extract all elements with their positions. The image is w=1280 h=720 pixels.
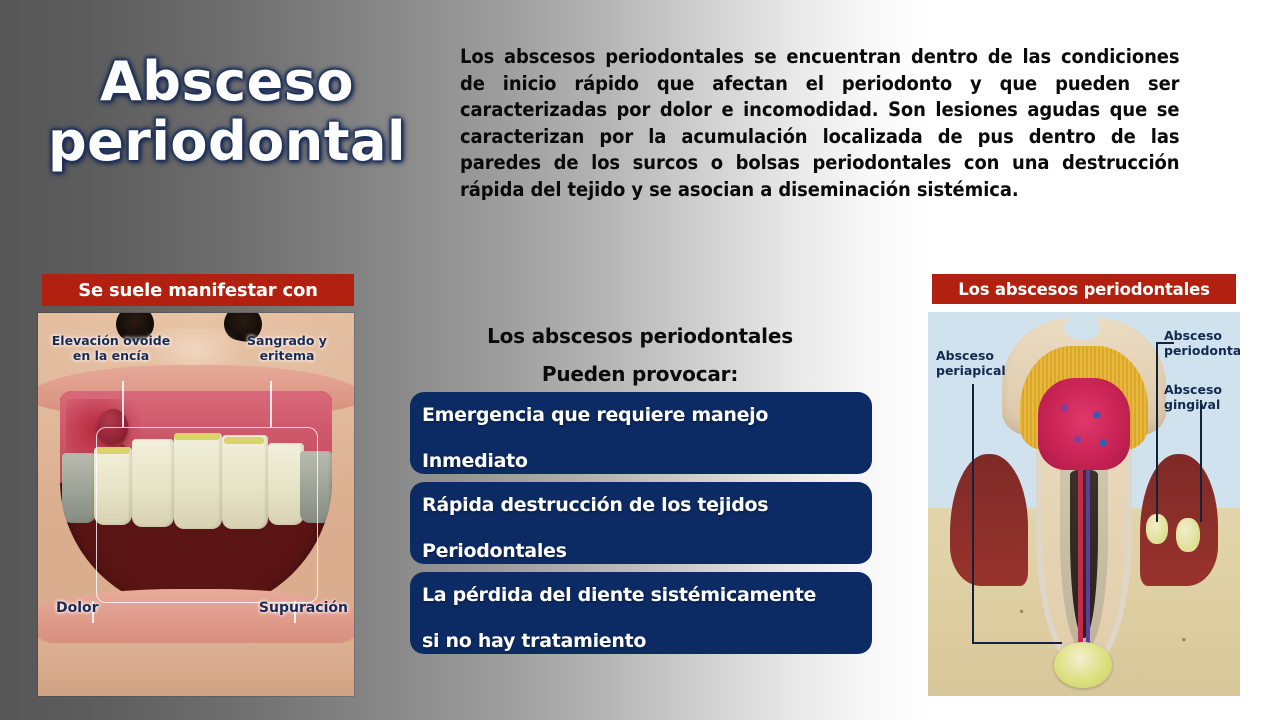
diagram-label-periapical: Absceso periapical [936,348,1016,378]
center-heading-line-1: Los abscesos periodontales [400,324,880,348]
photo-chin [38,643,354,696]
diagram-leader-line [1200,400,1202,522]
diagram-leader-line [972,384,974,642]
page-title-line-1: Absceso [100,50,354,113]
consequence-box-1-line-2: Inmediato [422,438,872,484]
diagram-gingiva-left [950,454,1028,586]
diagram-label-periodontal: Absceso periodontal [1164,328,1240,358]
center-heading-line-2: Pueden provocar: [400,362,880,386]
callout-suppuration: Supuración [238,601,348,616]
left-banner: Se suele manifestar con [42,274,354,306]
consequence-box-2-line-2: Periodontales [422,528,872,574]
diagram-crown-notch [1064,316,1100,340]
right-banner: Los abscesos periodontales [932,274,1236,304]
page-title: Absceso periodontal [22,52,432,172]
photo-tooth [62,453,96,523]
callout-bleeding-erythema: Sangrado y eritema [234,333,340,363]
consequence-box-3-line-1: La pérdida del diente sistémicamente [422,572,872,618]
diagram-leader-line [1156,342,1158,522]
callout-pain: Dolor [56,601,126,616]
consequence-box-3-line-2: si no hay tratamiento [422,618,872,664]
consequence-box-3: La pérdida del diente sistémicamente si … [410,572,872,654]
clinical-photo-mouth: Elevación ovoide en la encía Sangrado y … [38,313,354,696]
diagram-pulp-vessels [1052,394,1116,464]
photo-leader-line [122,381,124,427]
photo-highlight-box [96,427,318,603]
diagram-periapical-abscess [1054,642,1112,688]
consequence-box-1-line-1: Emergencia que requiere manejo [422,392,872,438]
consequence-box-1: Emergencia que requiere manejo Inmediato [410,392,872,474]
callout-ovoid-elevation: Elevación ovoide en la encía [46,333,176,363]
consequence-box-2: Rápida destrucción de los tejidos Period… [410,482,872,564]
photo-leader-line [270,381,272,427]
diagram-leader-line [972,642,1062,644]
diagram-label-gingival: Absceso gingival [1164,382,1234,412]
page-title-line-2: periodontal [22,112,432,172]
consequence-box-2-line-1: Rápida destrucción de los tejidos [422,482,872,528]
slide-root: Absceso periodontal Los abscesos periodo… [0,0,1280,720]
intro-paragraph: Los abscesos periodontales se encuentran… [460,44,1179,203]
tooth-cross-section-diagram: Absceso periapical Absceso periodontal A… [928,312,1240,696]
diagram-gingival-abscess [1176,518,1200,552]
